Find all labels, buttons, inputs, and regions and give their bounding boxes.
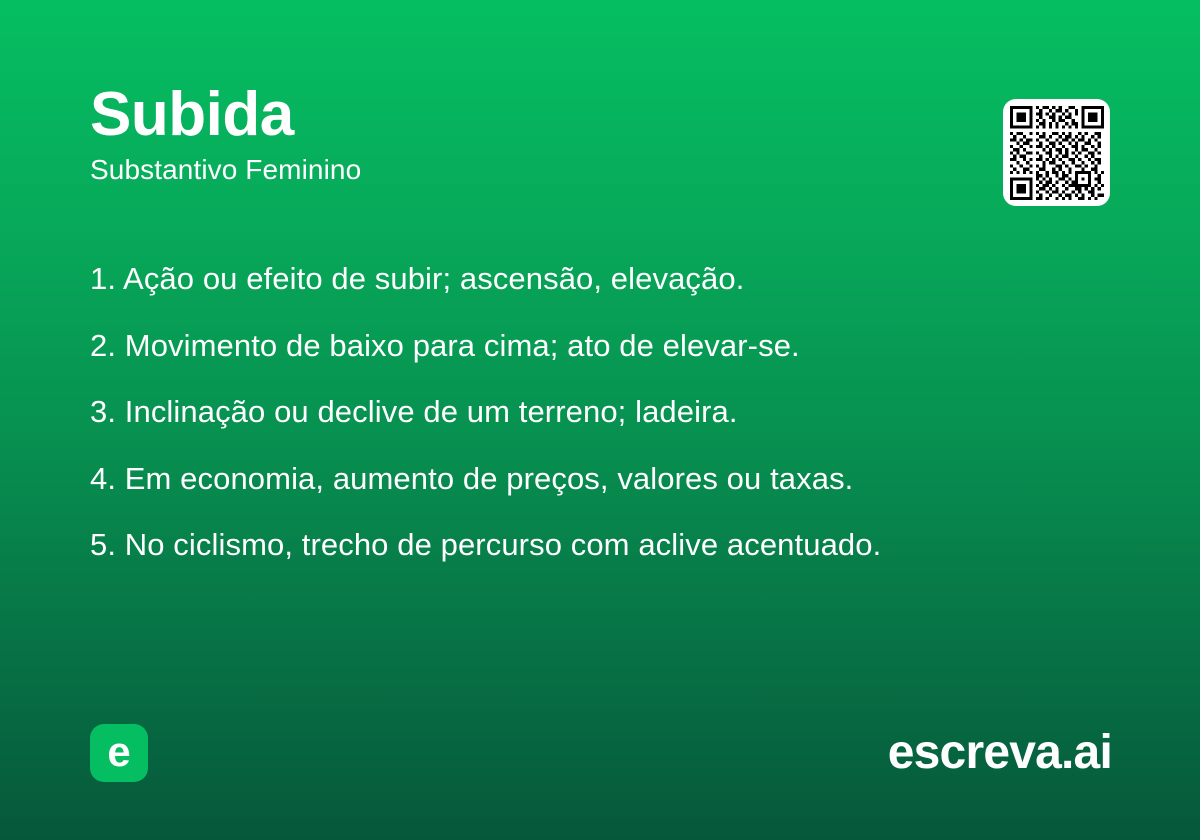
dictionary-card: Subida Substantivo Feminino xyxy=(0,0,1200,840)
list-item: 4. Em economia, aumento de preços, valor… xyxy=(90,446,1100,513)
list-item: 2. Movimento de baixo para cima; ato de … xyxy=(90,313,1100,380)
logo-letter: e xyxy=(107,731,130,773)
brand-wordmark: escreva.ai xyxy=(888,724,1112,782)
qr-code-icon xyxy=(1010,106,1104,200)
word-class-label: Substantivo Feminino xyxy=(90,154,950,186)
page-title: Subida xyxy=(90,84,950,146)
card-header: Subida Substantivo Feminino xyxy=(90,84,950,186)
definition-list: 1. Ação ou efeito de subir; ascensão, el… xyxy=(90,246,1100,579)
list-item: 5. No ciclismo, trecho de percurso com a… xyxy=(90,512,1100,579)
list-item: 1. Ação ou efeito de subir; ascensão, el… xyxy=(90,246,1100,313)
list-item: 3. Inclinação ou declive de um terreno; … xyxy=(90,379,1100,446)
escreva-logo-icon[interactable]: e xyxy=(90,724,148,782)
qr-code[interactable] xyxy=(1003,99,1110,206)
